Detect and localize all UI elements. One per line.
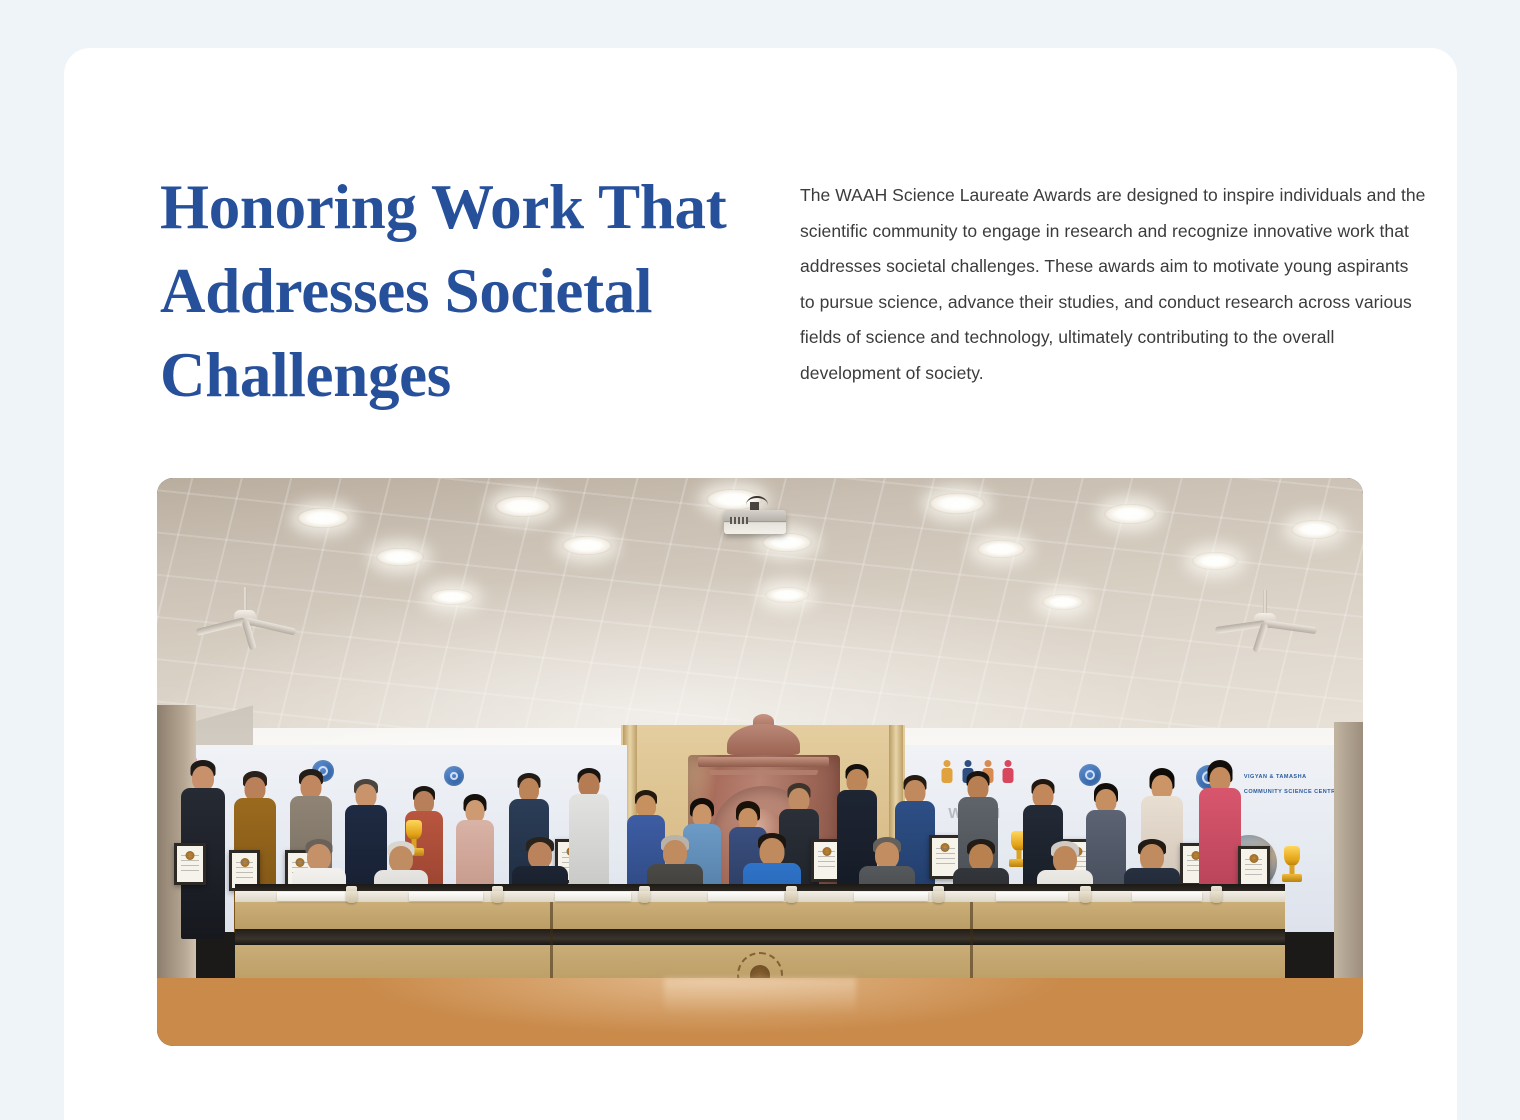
ceiling-fan-right xyxy=(1218,590,1312,650)
ceiling-light xyxy=(762,533,812,552)
ceiling-light xyxy=(297,508,349,528)
trophy xyxy=(1281,846,1303,884)
water-tumbler xyxy=(1080,886,1091,903)
water-tumbler xyxy=(1211,886,1222,903)
nameplate xyxy=(996,892,1068,901)
ceiling-light xyxy=(1192,552,1238,570)
event-photo: WAAH xyxy=(157,478,1363,1046)
ceiling-light xyxy=(562,536,612,555)
auditorium-floor xyxy=(157,978,1363,1046)
ceiling-projector xyxy=(724,502,786,534)
content-card: Honoring Work That Addresses Societal Ch… xyxy=(64,48,1457,1120)
water-tumbler xyxy=(933,886,944,903)
page-title: Honoring Work That Addresses Societal Ch… xyxy=(160,166,760,417)
ceiling-light xyxy=(929,493,985,514)
nameplate xyxy=(708,892,784,901)
ceiling-light xyxy=(495,496,551,517)
nameplate xyxy=(854,892,928,901)
ceiling-light xyxy=(1042,594,1084,610)
ceiling-fan-left xyxy=(198,587,292,647)
water-tumbler xyxy=(786,886,797,903)
ceiling-light xyxy=(765,587,809,603)
water-tumbler xyxy=(346,886,357,903)
ceiling-light xyxy=(1104,504,1156,524)
event-photo-scene: WAAH xyxy=(157,478,1363,1046)
certificate xyxy=(1238,846,1270,889)
nameplate xyxy=(277,892,349,901)
water-tumbler xyxy=(639,886,650,903)
nameplate xyxy=(409,892,483,901)
nameplate xyxy=(555,892,631,901)
nameplate xyxy=(1132,892,1202,901)
page-root: Honoring Work That Addresses Societal Ch… xyxy=(0,0,1520,1120)
certificate xyxy=(174,843,206,885)
ceiling-light xyxy=(1291,520,1339,539)
water-tumbler xyxy=(492,886,503,903)
page-header: Honoring Work That Addresses Societal Ch… xyxy=(160,166,1426,417)
intro-paragraph: The WAAH Science Laureate Awards are des… xyxy=(800,166,1426,391)
